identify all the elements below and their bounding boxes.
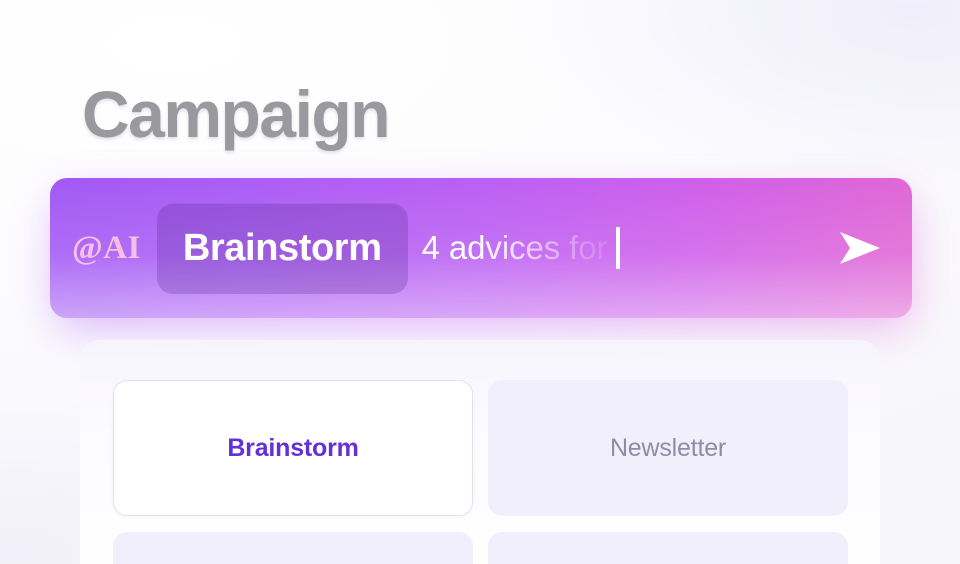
results-card-grid: Brainstorm Newsletter (113, 380, 848, 564)
result-card-label: Brainstorm (227, 434, 358, 463)
ai-prompt-bar[interactable]: @AI Brainstorm 4 advices for (50, 178, 912, 318)
result-card-newsletter[interactable]: Newsletter (488, 380, 848, 516)
page-title: Campaign (82, 76, 389, 152)
results-panel: Brainstorm Newsletter (80, 340, 880, 564)
result-card-brainstorm[interactable]: Brainstorm (113, 380, 473, 516)
ai-mention-prefix: @AI (72, 230, 141, 267)
result-card-label: Newsletter (610, 434, 726, 463)
mention-chip-brainstorm[interactable]: Brainstorm (157, 203, 408, 294)
result-card-empty-2[interactable] (488, 532, 848, 564)
prompt-input-value: 4 advices for (422, 229, 608, 267)
result-card-empty-1[interactable] (113, 532, 473, 564)
send-button[interactable] (808, 178, 912, 318)
text-caret (616, 227, 620, 269)
prompt-input[interactable]: 4 advices for (422, 227, 808, 269)
send-arrow-icon (837, 228, 883, 268)
mention-chip-label: Brainstorm (183, 227, 382, 270)
